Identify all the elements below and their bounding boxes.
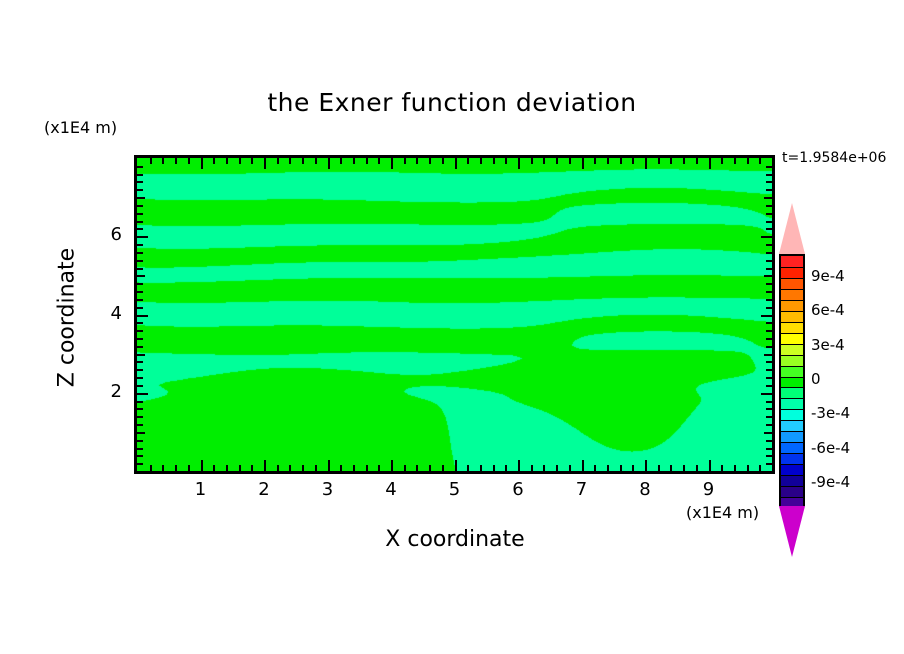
y-axis-minor-tick [137, 291, 143, 293]
y-axis-minor-tick [137, 377, 143, 379]
x-axis-minor-tick [759, 465, 761, 471]
x-axis-minor-tick-top [620, 158, 622, 164]
y-axis-minor-tick-right [766, 385, 772, 387]
y-axis-minor-tick [137, 440, 143, 442]
x-axis-minor-tick-top [404, 158, 406, 164]
x-axis-minor-tick-top [366, 158, 368, 164]
x-axis-minor-tick-top [251, 158, 253, 164]
x-axis-minor-tick [378, 465, 380, 471]
y-axis-minor-tick-right [766, 291, 772, 293]
x-axis-major-tick [709, 460, 711, 471]
colorbar-band [781, 267, 803, 278]
x-axis-major-tick-top [264, 158, 266, 169]
y-axis-minor-tick [137, 416, 143, 418]
x-axis-minor-tick [429, 465, 431, 471]
contour-plot-area [134, 155, 775, 474]
x-axis-minor-tick [277, 465, 279, 471]
x-axis-tick-label: 8 [630, 479, 660, 500]
contour-field-canvas [137, 158, 772, 471]
y-axis-title: Z coordinate [55, 228, 80, 408]
colorbar-band [781, 366, 803, 377]
y-axis-minor-tick-right [766, 307, 772, 309]
x-axis-minor-tick-top [632, 158, 634, 164]
colorbar-band [781, 387, 803, 398]
y-axis-minor-tick [137, 252, 143, 254]
y-axis-major-tick-right [761, 315, 772, 317]
x-axis-minor-tick-top [340, 158, 342, 164]
y-axis-minor-tick [137, 330, 143, 332]
y-axis-minor-tick [137, 221, 143, 223]
y-axis-minor-tick-right [766, 463, 772, 465]
y-axis-minor-tick-right [766, 260, 772, 262]
y-axis-minor-tick-right [766, 448, 772, 450]
x-axis-minor-tick [467, 465, 469, 471]
y-axis-minor-tick [137, 244, 143, 246]
x-axis-minor-tick-top [302, 158, 304, 164]
y-axis-minor-tick [137, 275, 145, 277]
y-axis-minor-tick [137, 369, 143, 371]
y-axis-minor-tick-right [766, 244, 772, 246]
colorbar-band [781, 300, 803, 311]
x-axis-major-tick-top [201, 158, 203, 169]
x-axis-minor-tick [340, 465, 342, 471]
colorbar-tick-label: 0 [811, 370, 821, 388]
x-axis-minor-tick-top [721, 158, 723, 164]
y-axis-minor-tick [137, 401, 143, 403]
colorbar-band [781, 289, 803, 300]
x-axis-minor-tick-top [480, 158, 482, 164]
colorbar-band [781, 431, 803, 442]
x-axis-minor-tick-top [277, 158, 279, 164]
y-axis-major-tick [137, 393, 148, 395]
y-axis-minor-tick-right [766, 299, 772, 301]
x-axis-minor-tick [594, 465, 596, 471]
x-axis-minor-tick [734, 465, 736, 471]
x-axis-minor-tick [404, 465, 406, 471]
x-axis-minor-tick [556, 465, 558, 471]
x-axis-major-tick-top [518, 158, 520, 169]
colorbar-tick-label: 6e-4 [811, 301, 845, 319]
colorbar-band [781, 486, 803, 497]
colorbar-band [781, 453, 803, 464]
y-axis-minor-tick [137, 424, 143, 426]
x-axis-minor-tick-top [670, 158, 672, 164]
y-axis-tick-label: 4 [96, 303, 122, 324]
y-axis-minor-tick-right [766, 416, 772, 418]
y-axis-minor-tick-right [766, 322, 772, 324]
colorbar-tick-label: 3e-4 [811, 336, 845, 354]
x-axis-minor-tick [480, 465, 482, 471]
y-axis-minor-tick-right [766, 268, 772, 270]
x-axis-minor-tick-top [315, 158, 317, 164]
x-axis-minor-tick [366, 465, 368, 471]
time-stamp-label: t=1.9584e+06 [782, 150, 886, 166]
x-axis-minor-tick-top [696, 158, 698, 164]
y-axis-minor-tick-right [766, 369, 772, 371]
x-axis-major-tick [328, 460, 330, 471]
x-axis-minor-tick [632, 465, 634, 471]
y-axis-minor-tick-right [766, 174, 772, 176]
y-axis-minor-tick [137, 455, 143, 457]
y-axis-minor-tick [137, 361, 143, 363]
y-axis-minor-tick-right [766, 401, 772, 403]
y-axis-minor-tick-right [766, 330, 772, 332]
y-axis-minor-tick [137, 166, 143, 168]
x-axis-major-tick [391, 460, 393, 471]
x-axis-minor-tick-top [658, 158, 660, 164]
x-axis-minor-tick [226, 465, 228, 471]
x-axis-minor-tick-top [188, 158, 190, 164]
x-axis-minor-tick [670, 465, 672, 471]
x-axis-minor-tick [353, 465, 355, 471]
x-axis-minor-tick [607, 465, 609, 471]
x-axis-title: X coordinate [0, 527, 904, 552]
y-axis-minor-tick-right [766, 166, 772, 168]
x-axis-minor-tick [150, 465, 152, 471]
y-axis-minor-tick-right [764, 354, 772, 356]
y-axis-major-tick [137, 236, 148, 238]
colorbar-tick-label: -3e-4 [811, 404, 850, 422]
x-axis-minor-tick [747, 465, 749, 471]
x-axis-minor-tick-top [353, 158, 355, 164]
page-title: the Exner function deviation [0, 88, 904, 117]
y-axis-major-tick-right [761, 236, 772, 238]
x-axis-minor-tick-top [531, 158, 533, 164]
x-axis-major-tick [201, 460, 203, 471]
y-axis-minor-tick-right [766, 408, 772, 410]
y-axis-minor-tick [137, 307, 143, 309]
y-axis-minor-tick-right [766, 377, 772, 379]
x-axis-minor-tick [213, 465, 215, 471]
y-axis-minor-tick [137, 283, 143, 285]
colorbar-band [781, 355, 803, 366]
x-axis-minor-tick [658, 465, 660, 471]
x-axis-minor-tick [315, 465, 317, 471]
y-axis-minor-tick-right [766, 346, 772, 348]
y-axis-minor-tick [137, 432, 145, 434]
colorbar-tick-label: 9e-4 [811, 267, 845, 285]
colorbar-tick-label: -9e-4 [811, 473, 850, 491]
x-axis-minor-tick-top [416, 158, 418, 164]
y-axis-minor-tick-right [766, 252, 772, 254]
y-axis-minor-tick [137, 213, 143, 215]
y-axis-minor-tick [137, 299, 143, 301]
colorbar-band [781, 420, 803, 431]
x-axis-minor-tick [683, 465, 685, 471]
x-axis-tick-label: 5 [440, 479, 470, 500]
x-axis-minor-tick [251, 465, 253, 471]
x-axis-tick-label: 1 [186, 479, 216, 500]
x-axis-minor-tick-top [556, 158, 558, 164]
colorbar-band [781, 256, 803, 267]
x-axis-minor-tick [696, 465, 698, 471]
x-axis-minor-tick [162, 465, 164, 471]
x-axis-minor-tick-top [239, 158, 241, 164]
y-axis-minor-tick-right [764, 275, 772, 277]
x-axis-minor-tick-top [594, 158, 596, 164]
x-axis-minor-tick-top [493, 158, 495, 164]
y-axis-minor-tick [137, 189, 143, 191]
x-axis-major-tick-top [391, 158, 393, 169]
x-axis-minor-tick-top [162, 158, 164, 164]
colorbar-band [781, 278, 803, 289]
x-axis-major-tick [455, 460, 457, 471]
x-axis-minor-tick-top [759, 158, 761, 164]
y-axis-minor-tick-right [766, 228, 772, 230]
x-axis-minor-tick [620, 465, 622, 471]
y-axis-minor-tick [137, 205, 143, 207]
colorbar-tick-label: -6e-4 [811, 439, 850, 457]
y-axis-minor-tick [137, 463, 143, 465]
y-axis-minor-tick-right [766, 189, 772, 191]
colorbar-band [781, 322, 803, 333]
y-axis-minor-tick-right [766, 338, 772, 340]
colorbar-band [781, 377, 803, 388]
x-axis-minor-tick [569, 465, 571, 471]
x-axis-tick-label: 3 [313, 479, 343, 500]
colorbar-over-arrow-icon [779, 203, 805, 254]
y-axis-minor-tick-right [766, 440, 772, 442]
x-axis-tick-label: 4 [376, 479, 406, 500]
y-axis-minor-tick [137, 385, 143, 387]
colorbar-under-arrow-icon [779, 506, 805, 557]
y-axis-minor-tick-right [766, 205, 772, 207]
x-axis-minor-tick [239, 465, 241, 471]
x-axis-minor-tick-top [543, 158, 545, 164]
x-axis-minor-tick-top [442, 158, 444, 164]
colorbar-band [781, 409, 803, 420]
y-axis-minor-tick [137, 174, 143, 176]
x-axis-minor-tick-top [175, 158, 177, 164]
x-axis-minor-tick-top [213, 158, 215, 164]
y-axis-major-tick [137, 315, 148, 317]
x-axis-minor-tick [543, 465, 545, 471]
y-axis-minor-tick [137, 322, 143, 324]
x-axis-minor-tick-top [467, 158, 469, 164]
x-axis-major-tick [264, 460, 266, 471]
x-axis-minor-tick [416, 465, 418, 471]
x-axis-major-tick [645, 460, 647, 471]
x-axis-minor-tick [721, 465, 723, 471]
x-axis-minor-tick-top [607, 158, 609, 164]
x-axis-minor-tick-top [226, 158, 228, 164]
colorbar: 9e-46e-43e-40-3e-4-6e-4-9e-4 [779, 203, 805, 515]
y-axis-minor-tick [137, 181, 143, 183]
x-axis-minor-tick-top [429, 158, 431, 164]
x-axis-minor-tick-top [569, 158, 571, 164]
colorbar-band [781, 464, 803, 475]
x-axis-minor-tick-top [150, 158, 152, 164]
colorbar-band [781, 344, 803, 355]
y-axis-minor-tick-right [766, 424, 772, 426]
y-axis-minor-tick-right [764, 197, 772, 199]
colorbar-band [781, 475, 803, 486]
x-axis-minor-tick-top [734, 158, 736, 164]
y-axis-minor-tick [137, 197, 145, 199]
x-axis-minor-tick [505, 465, 507, 471]
y-axis-minor-tick-right [766, 361, 772, 363]
colorbar-band [781, 442, 803, 453]
x-axis-major-tick [518, 460, 520, 471]
y-axis-minor-tick-right [766, 181, 772, 183]
y-axis-tick-label: 6 [96, 224, 122, 245]
x-axis-minor-tick [289, 465, 291, 471]
x-axis-tick-label: 7 [567, 479, 597, 500]
x-axis-minor-tick-top [378, 158, 380, 164]
x-axis-minor-tick-top [747, 158, 749, 164]
y-axis-minor-tick-right [766, 283, 772, 285]
y-axis-minor-tick-right [764, 432, 772, 434]
x-axis-minor-tick-top [683, 158, 685, 164]
x-axis-minor-tick [493, 465, 495, 471]
y-axis-minor-tick [137, 346, 143, 348]
y-axis-minor-tick [137, 338, 143, 340]
x-axis-tick-label: 9 [694, 479, 724, 500]
colorbar-band-stack [779, 254, 805, 506]
x-axis-tick-label: 6 [503, 479, 533, 500]
x-axis-major-tick-top [328, 158, 330, 169]
y-axis-minor-tick-right [766, 213, 772, 215]
x-axis-minor-tick-top [289, 158, 291, 164]
x-axis-minor-tick [175, 465, 177, 471]
y-axis-minor-tick [137, 354, 145, 356]
y-axis-minor-tick-right [766, 221, 772, 223]
x-axis-minor-tick [188, 465, 190, 471]
x-axis-minor-tick [302, 465, 304, 471]
x-axis-minor-tick-top [505, 158, 507, 164]
y-axis-tick-label: 2 [96, 381, 122, 402]
x-axis-minor-tick [531, 465, 533, 471]
y-axis-minor-tick [137, 408, 143, 410]
x-axis-major-tick-top [455, 158, 457, 169]
x-axis-major-tick [582, 460, 584, 471]
x-axis-major-tick-top [645, 158, 647, 169]
y-axis-major-tick-right [761, 393, 772, 395]
colorbar-band [781, 311, 803, 322]
y-axis-minor-tick [137, 448, 143, 450]
colorbar-band [781, 398, 803, 409]
colorbar-band [781, 333, 803, 344]
y-axis-minor-tick [137, 268, 143, 270]
y-axis-minor-tick [137, 228, 143, 230]
x-axis-tick-label: 2 [249, 479, 279, 500]
y-axis-minor-tick-right [766, 455, 772, 457]
x-axis-major-tick-top [582, 158, 584, 169]
x-axis-unit-label: (x1E4 m) [686, 503, 759, 522]
x-axis-major-tick-top [709, 158, 711, 169]
x-axis-minor-tick [442, 465, 444, 471]
y-axis-minor-tick [137, 260, 143, 262]
y-axis-unit-label: (x1E4 m) [44, 118, 117, 137]
